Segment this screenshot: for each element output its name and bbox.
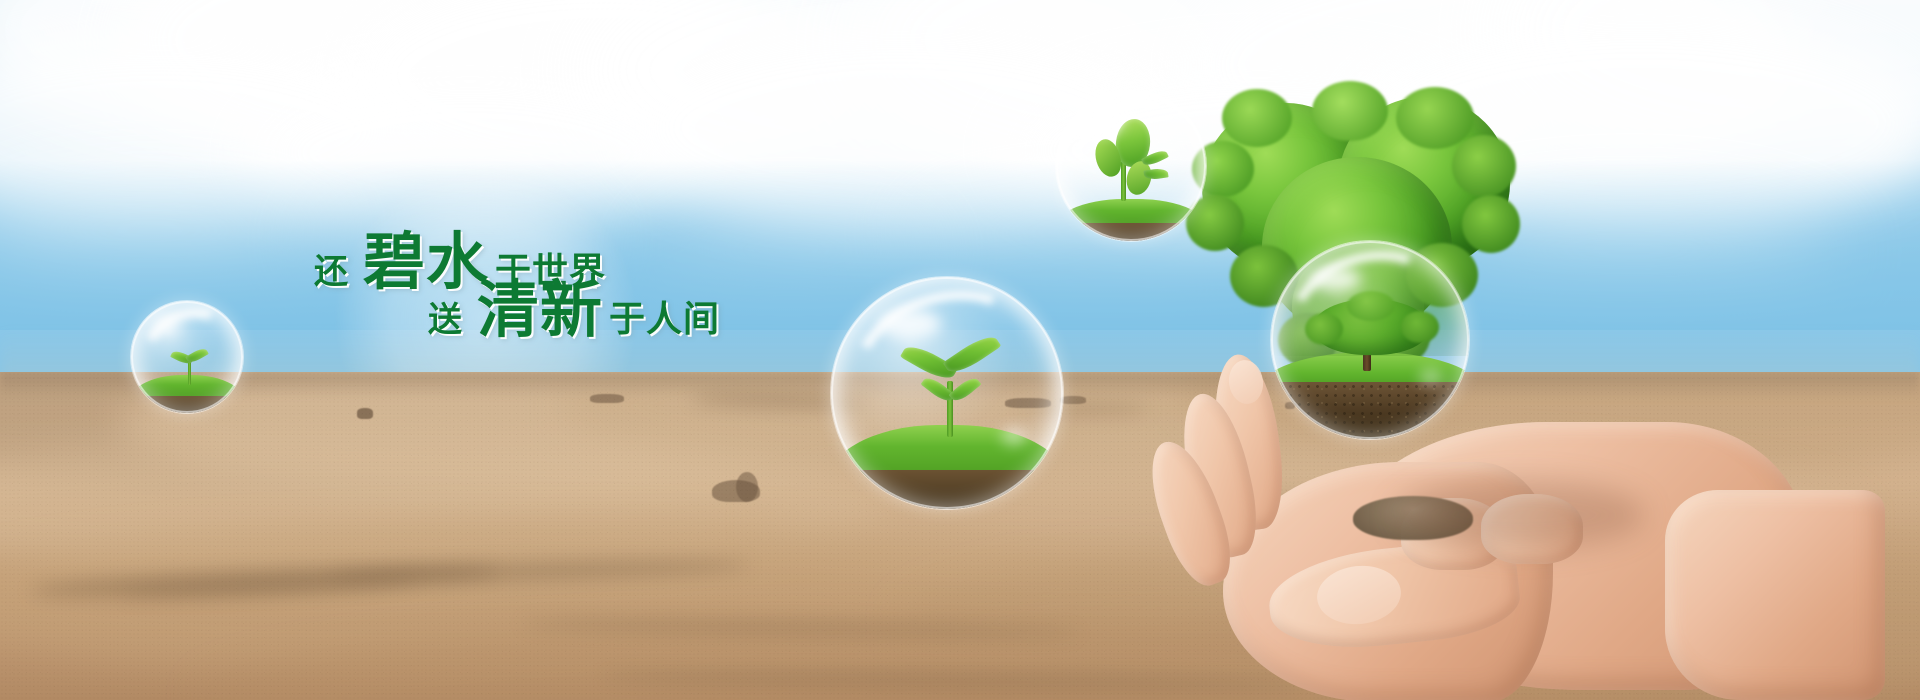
- tree-leaf-cluster: [1462, 195, 1520, 253]
- sprout-leaf-right: [185, 346, 209, 365]
- eco-banner: 还 碧水 于世界 送 清新 于人间: [0, 0, 1920, 700]
- right-wrist: [1665, 490, 1885, 700]
- sprout-leaf-outer-right: [943, 330, 1002, 378]
- bubble-specular: [153, 317, 181, 333]
- slogan-line-2: 送 清新 于人间: [428, 280, 720, 342]
- bubble-small-topright: [1055, 90, 1207, 242]
- sprout-group: [171, 347, 209, 383]
- slogan-block: 还 碧水 于世界 送 清新 于人间: [300, 232, 740, 358]
- soil-layer: [830, 470, 1064, 510]
- globe-background-foliage: [1271, 241, 1469, 356]
- slogan-line1-prefix: 还: [314, 255, 349, 289]
- tree-leaf-cluster: [1396, 87, 1474, 149]
- sprout-stem: [188, 361, 191, 385]
- slogan-line2-emphasis: 清新: [471, 280, 609, 342]
- sprout-leaf-inner-right: [949, 374, 982, 405]
- sprout-group: [905, 339, 1001, 435]
- tree-leaf-cluster: [1452, 135, 1516, 197]
- globe-soil-rocks: [1270, 382, 1470, 440]
- tree-leaf-cluster: [1312, 81, 1388, 141]
- hand-shadow: [1395, 480, 1645, 550]
- soil-layer: [1055, 223, 1207, 242]
- seedling-group: [1094, 117, 1176, 203]
- tree-leaf-cluster: [1222, 89, 1292, 147]
- bubble-large-center: [830, 276, 1064, 510]
- slogan-line2-suffix: 于人间: [609, 301, 720, 337]
- bubble-specular: [879, 309, 941, 339]
- bubble-small-left: [130, 300, 244, 414]
- soil-layer: [130, 396, 244, 414]
- slogan-line2-prefix: 送: [428, 303, 463, 337]
- bubble-tree-right: [1270, 240, 1470, 440]
- bubble-ground-disc: [830, 425, 1064, 510]
- bubble-ground-disc: [1055, 199, 1207, 242]
